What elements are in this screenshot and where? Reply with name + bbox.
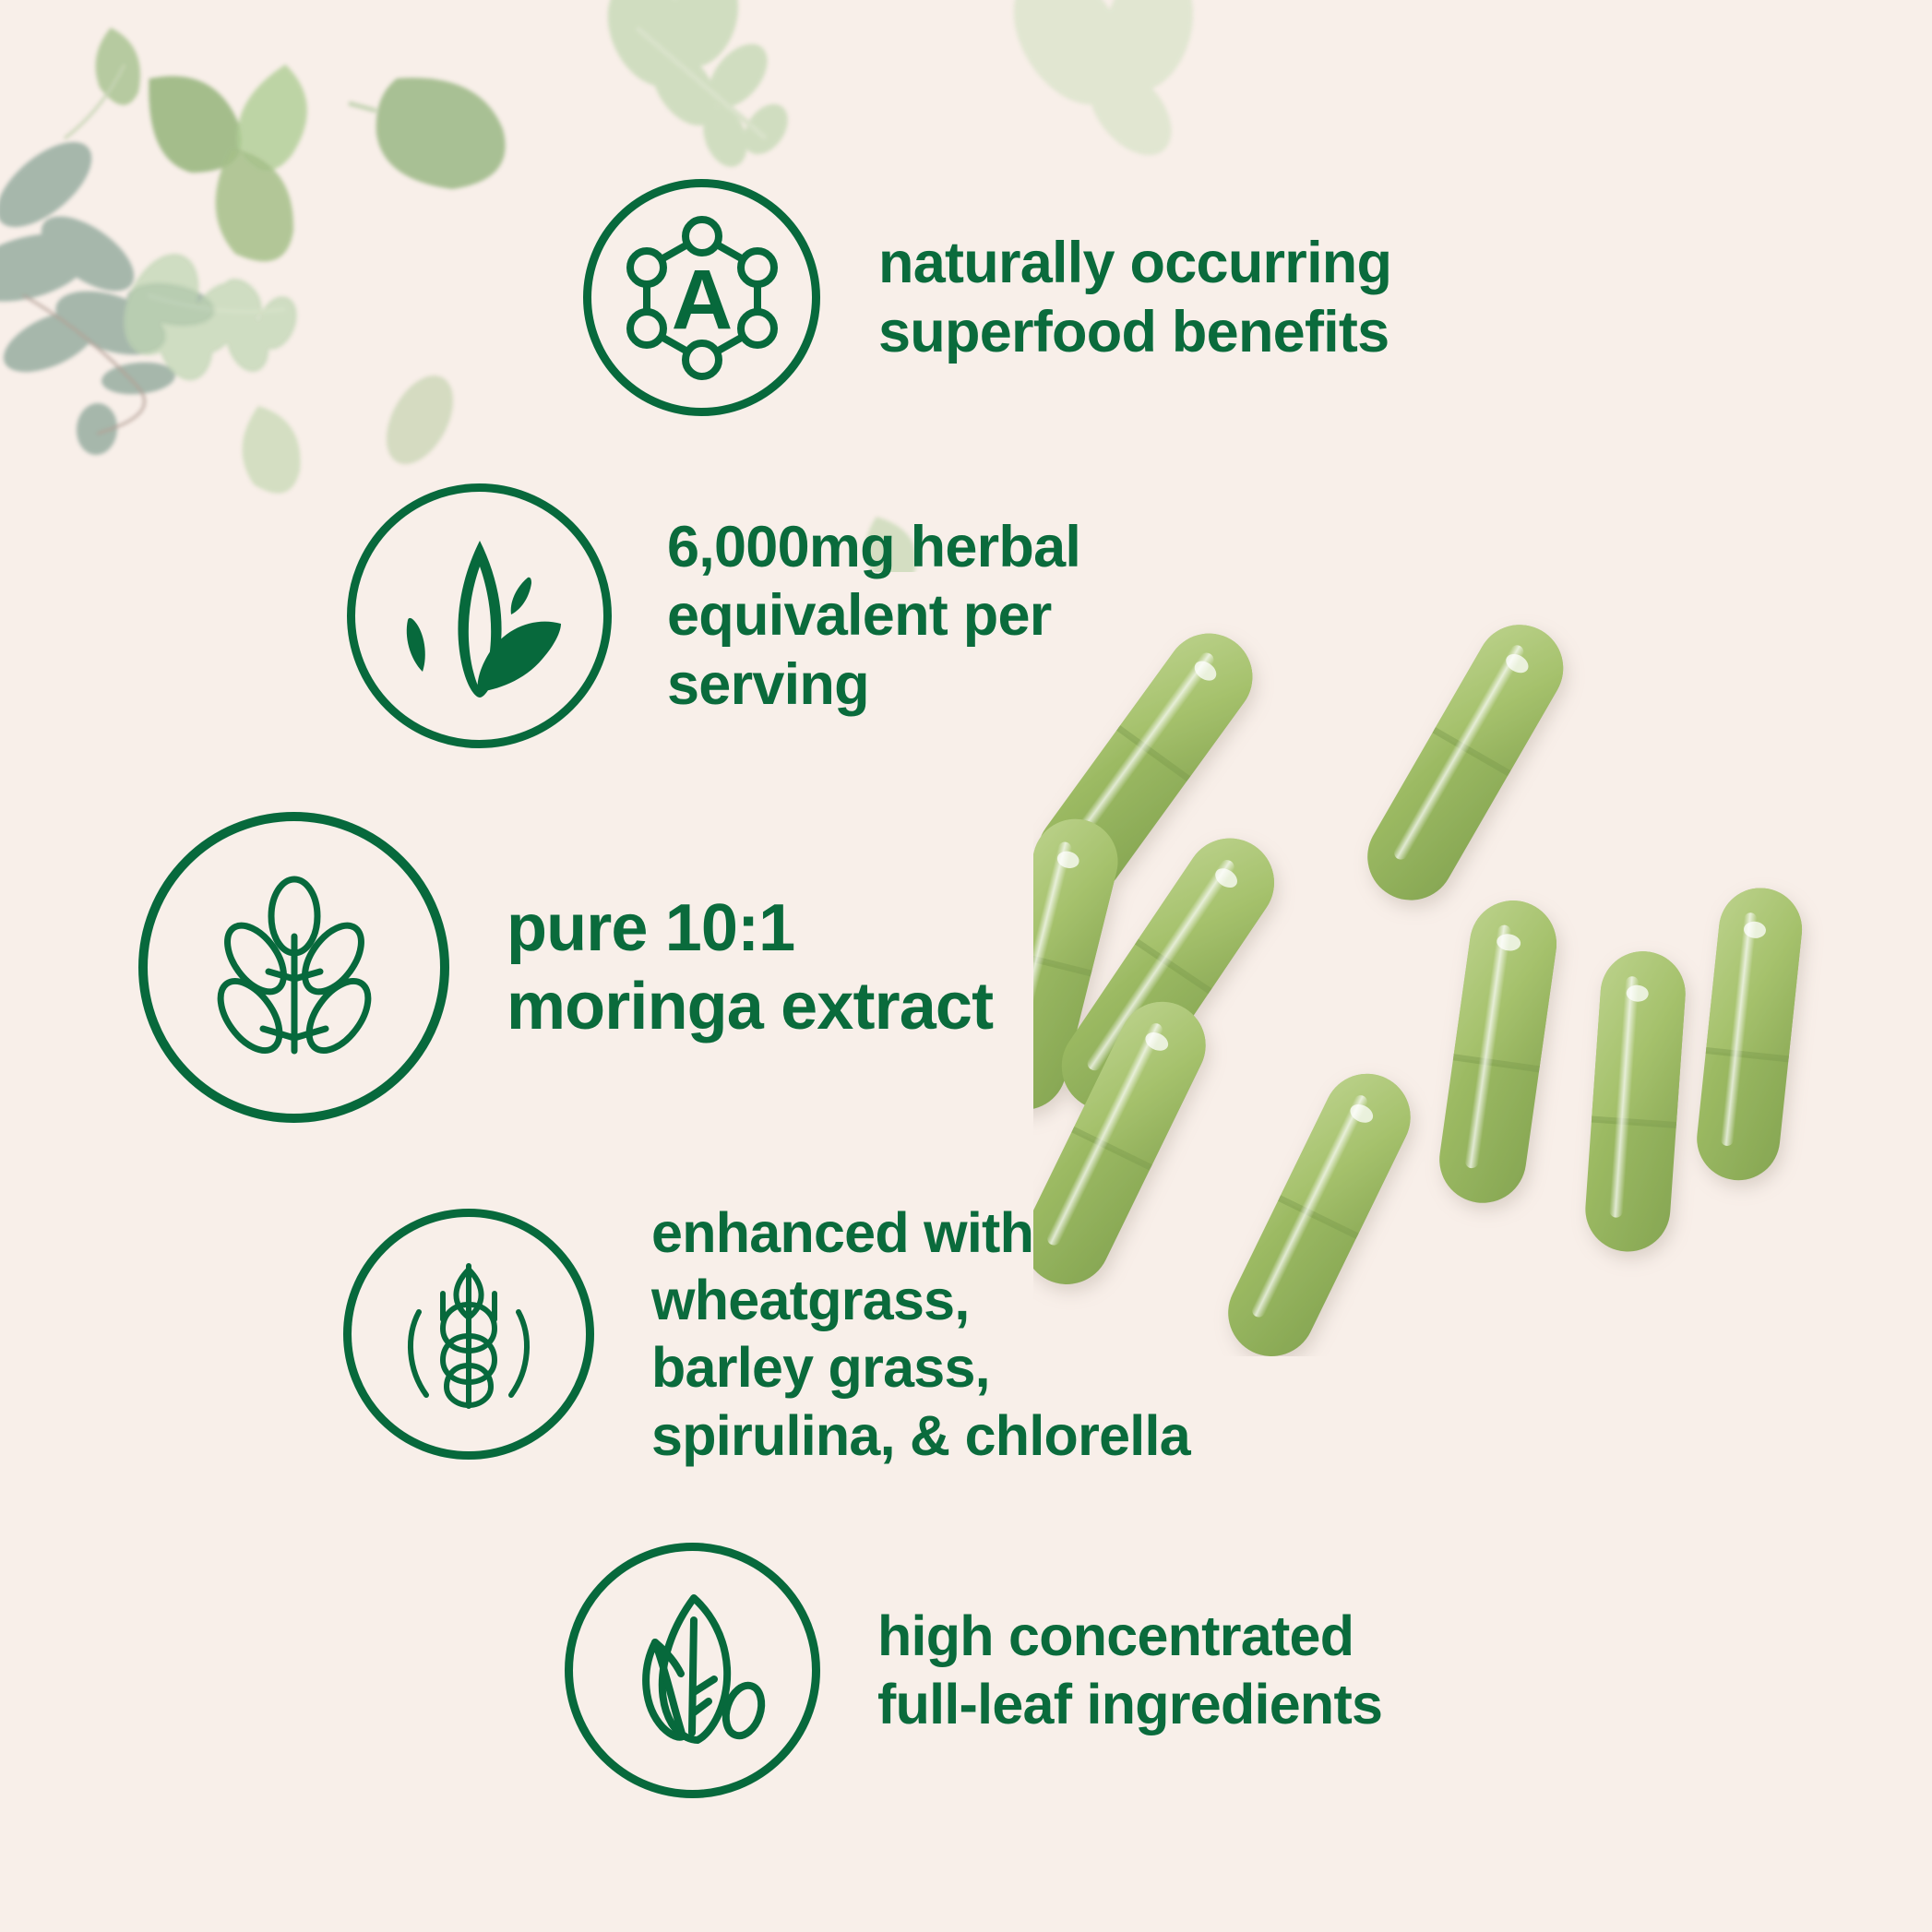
feature-label: naturally occurring superfood benefits — [878, 229, 1391, 366]
molecule-vitamin-a-icon: A — [583, 179, 820, 416]
leaf-sprout-icon — [347, 483, 612, 748]
green-moringa-capsules-photo — [1033, 590, 1845, 1356]
feature-label: high concentrated full-leaf ingredients — [877, 1603, 1382, 1737]
feature-item-superfood-benefits: A naturally occurring superfood benefits — [583, 179, 1391, 416]
feature-item-moringa-extract: pure 10:1 moringa extract — [138, 812, 993, 1123]
feature-label: pure 10:1 moringa extract — [507, 889, 993, 1046]
feature-label: 6,000mg herbal equivalent per serving — [667, 513, 1080, 719]
feature-item-full-leaf-ingredients: high concentrated full-leaf ingredients — [565, 1543, 1382, 1798]
infographic-canvas: A naturally occurring superfood benefits — [0, 0, 1932, 1932]
wheat-stalk-icon — [343, 1209, 594, 1460]
feature-item-herbal-equivalent: 6,000mg herbal equivalent per serving — [347, 483, 1080, 748]
moringa-plant-branch-icon — [138, 812, 449, 1123]
full-leaf-seed-icon — [565, 1543, 820, 1798]
molecule-letter: A — [671, 253, 732, 347]
